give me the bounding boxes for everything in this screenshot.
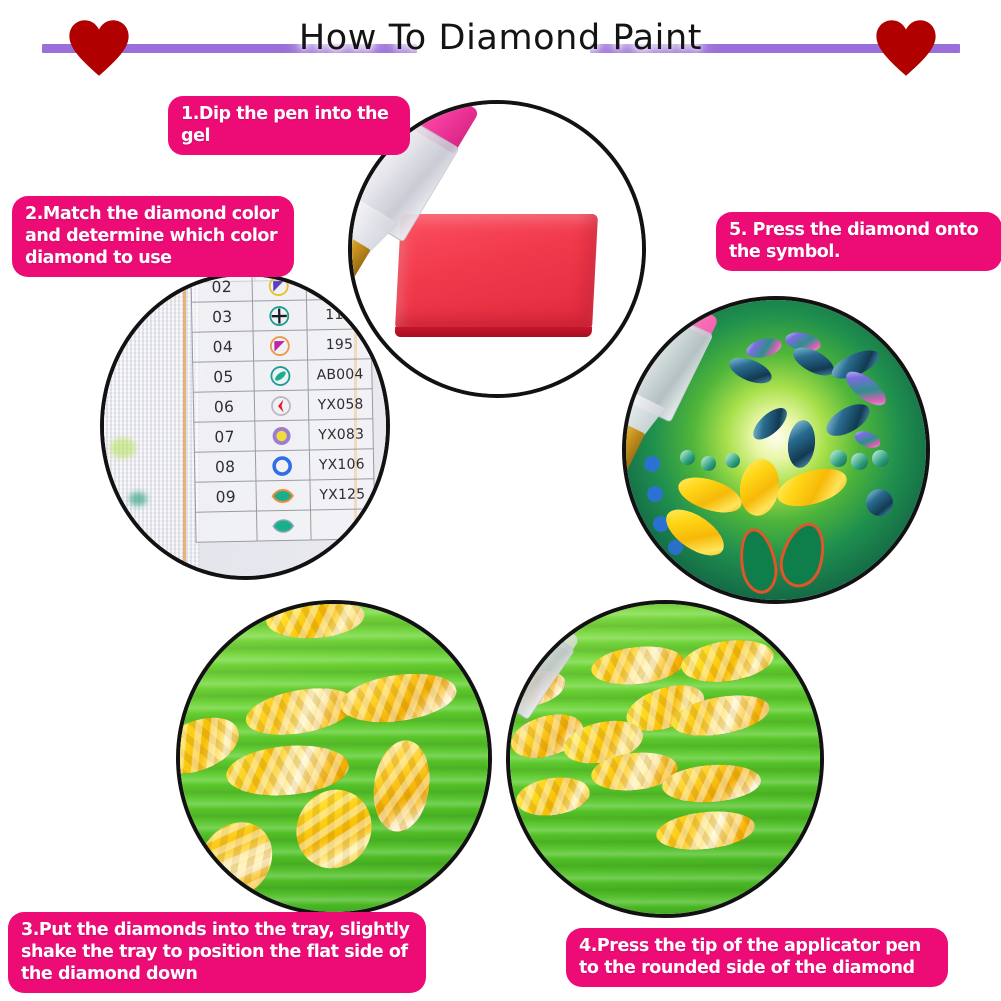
table-row: 06 YX058	[193, 389, 373, 422]
table-row: 09 YX125	[195, 479, 375, 512]
step-5-photo	[622, 296, 930, 604]
chart-symbol-07	[255, 420, 309, 451]
pen-tip	[622, 423, 645, 484]
chart-code-02: 093	[306, 272, 371, 300]
canvas-smudge-green	[110, 438, 136, 458]
symbol-icon-plus-in-teal-circle	[268, 304, 290, 326]
step-3-scene	[180, 604, 488, 912]
color-legend-table: 02 093 03	[190, 272, 376, 543]
chart-symbol-09	[256, 480, 310, 511]
step-5-label: 5. Press the diamond onto the symbol.	[716, 212, 1001, 271]
chart-code-09: YX125	[310, 479, 375, 510]
step-4-photo	[506, 600, 824, 918]
diamond-round	[851, 453, 868, 470]
symbol-icon-teal-leaf-orange-outline	[271, 485, 295, 505]
chart-code-07: YX083	[308, 419, 373, 450]
table-row: 05 AB004	[192, 359, 372, 392]
diamond-round	[872, 450, 889, 467]
step-1-label: 1.Dip the pen into the gel	[168, 96, 410, 155]
chart-num-03: 03	[191, 301, 253, 332]
chart-num-04: 04	[192, 331, 254, 362]
chart-code-08: YX106	[309, 449, 374, 480]
chart-num-09: 09	[195, 481, 257, 512]
chart-guide-line-left	[183, 276, 186, 576]
table-row: 07 YX083	[194, 419, 374, 452]
chart-symbol-04	[253, 330, 307, 361]
symbol-icon-teal-leaf-bottom	[271, 515, 295, 535]
gel-pad	[395, 214, 598, 330]
step-2-label: 2.Match the diamond color and determine …	[12, 196, 294, 277]
symbol-icon-triangle-in-yellow-circle	[268, 274, 290, 296]
chart-code-04: 195	[307, 329, 372, 360]
chart-symbol-clipped-bottom	[256, 510, 310, 541]
step-3-photo	[176, 600, 492, 916]
chart-symbol-08	[255, 450, 309, 481]
diamond-round	[725, 453, 740, 468]
table-row: 03 111	[191, 299, 371, 332]
chart-code-06: YX058	[308, 389, 373, 420]
symbol-icon-teal-slash-in-teal-circle	[269, 364, 291, 386]
page-title: How To Diamond Paint	[0, 18, 1001, 58]
table-row: 08 YX106	[194, 449, 374, 482]
step-5-scene	[626, 300, 926, 600]
step-3-label: 3.Put the diamonds into the tray, slight…	[8, 912, 426, 993]
diamond-round	[701, 456, 716, 471]
table-row	[195, 509, 375, 542]
diamond-round-dark	[866, 489, 893, 516]
step-2-scene: 020 02 093	[104, 276, 386, 576]
diamond-round	[830, 450, 847, 467]
chart-code-05: AB004	[307, 359, 372, 390]
printed-symbol-dot	[647, 486, 663, 502]
step-2-photo: 020 02 093	[100, 272, 390, 580]
chart-num-clipped-bottom	[195, 511, 257, 542]
chart-symbol-06	[254, 390, 308, 421]
symbol-icon-yellow-dot-in-purple-ring	[271, 424, 293, 446]
chart-num-06: 06	[193, 391, 255, 422]
infographic-canvas: How To Diamond Paint	[0, 0, 1001, 1001]
step-4-label: 4.Press the tip of the applicator pen to…	[566, 928, 948, 987]
symbol-icon-magenta-triangle-in-orange-circle	[269, 334, 291, 356]
chart-num-05: 05	[192, 361, 254, 392]
chart-code-clipped-bottom	[310, 509, 375, 540]
diamond-round	[680, 450, 695, 465]
chart-symbol-05	[253, 360, 307, 391]
chart-symbol-03	[252, 300, 306, 331]
symbol-icon-red-chevron-in-gray-circle	[270, 394, 292, 416]
header-banner: How To Diamond Paint	[0, 0, 1001, 80]
symbol-icon-blue-ring	[271, 454, 293, 476]
chart-code-03: 111	[306, 299, 371, 330]
step-4-scene	[510, 604, 820, 914]
table-row: 04 195	[192, 329, 372, 362]
chart-num-07: 07	[194, 421, 256, 452]
chart-num-08: 08	[194, 451, 256, 482]
